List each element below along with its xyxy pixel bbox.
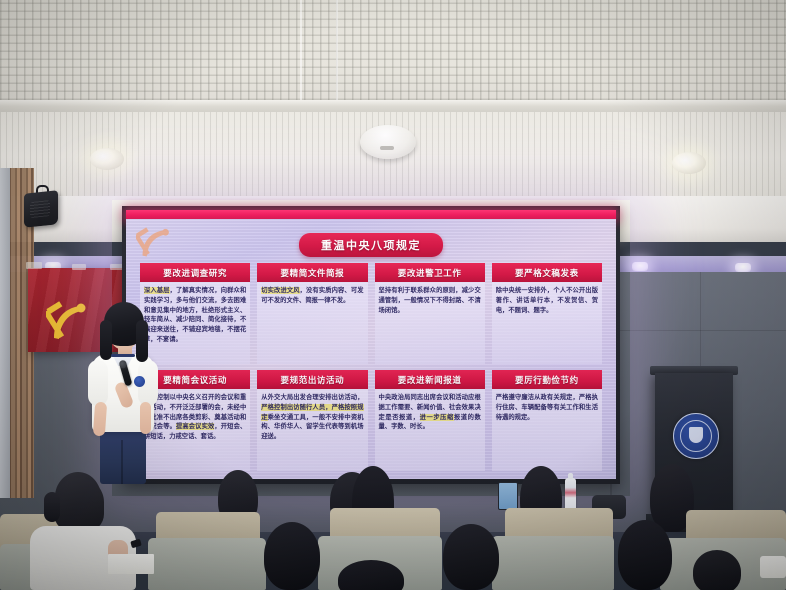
auditorium-scene: 重温中央八项规定 要改进调查研究 深入基层，了解真实情况，向群众和实践学习，多与… (0, 0, 786, 590)
cell-heading: 要改进调查研究 (140, 263, 250, 282)
led-screen: 重温中央八项规定 要改进调查研究 深入基层，了解真实情况，向群众和实践学习，多与… (126, 219, 616, 479)
ceiling-seam (300, 0, 302, 108)
cup (760, 556, 786, 578)
smoke-detector-icon (360, 125, 416, 159)
audience-head (264, 522, 320, 590)
cell-body: 严格遵守廉洁从政有关规定，严格执行住房、车辆配备等有关工作和生活待遇的规定。 (492, 389, 602, 471)
cell-highlight: 切实改进文风 (261, 287, 299, 294)
cell-body-pre: 除中央统一安排外，个人不公开出版著作、讲话单行本，不发贺信、贺电，不题词、题字。 (496, 287, 598, 314)
presenter-arm (140, 402, 151, 434)
wall-seam (610, 330, 786, 331)
school-logo-badge (134, 376, 145, 387)
cell-body-pre: 严格遵守廉洁从政有关规定，严格执行住房、车辆配备等有关工作和生活待遇的规定。 (496, 394, 598, 421)
wall-speaker-icon (24, 190, 58, 228)
presenter (78, 302, 166, 484)
cell-highlight: 进一步压缩 (420, 414, 454, 421)
auditorium-seat-back (492, 536, 614, 590)
audience-head (618, 520, 672, 590)
ceiling-downlight (672, 152, 706, 174)
wall-edge-trim (0, 168, 10, 498)
cove-light (632, 262, 648, 271)
slide-cell: 要规范出访活动 从外交大局出发合理安排出访活动，严格控制出访随行人员，严格按照规… (257, 370, 367, 471)
slide-cell: 要厉行勤俭节约 严格遵守廉洁从政有关规定，严格执行住房、车辆配备等有关工作和生活… (492, 370, 602, 471)
cell-body: 坚持有利于联系群众的原则，减少交通管制，一般情况下不得封路、不清场闭馆。 (375, 282, 485, 364)
cell-heading: 要厉行勤俭节约 (492, 370, 602, 389)
auditorium-seat-back (148, 538, 266, 590)
audience-head (443, 524, 499, 590)
cell-heading: 要规范出访活动 (257, 370, 367, 389)
school-crest-emblem (673, 413, 719, 459)
cell-highlight: 提高会议实效 (176, 423, 214, 430)
cell-heading: 要精简文件简报 (257, 263, 367, 282)
screen-top-accent-strip (126, 210, 616, 219)
cell-body-pre: 坚持有利于联系群众的原则，减少交通管制，一般情况下不得封路、不清场闭馆。 (379, 287, 481, 314)
cell-body-post: 乘坐交通工具，一般不安排中资机构、华侨华人、留学生代表等到机场迎送。 (261, 414, 363, 441)
slide-cell: 要严格文稿发表 除中央统一安排外，个人不公开出版著作、讲话单行本，不发贺信、贺电… (492, 263, 602, 364)
tablet-device[interactable] (498, 482, 518, 510)
cell-body: 从外交大局出发合理安排出访活动，严格控制出访随行人员，严格按照规定乘坐交通工具，… (257, 389, 367, 471)
cell-body: 除中央统一安排外，个人不公开出版著作、讲话单行本，不发贺信、贺电，不题词、题字。 (492, 282, 602, 364)
cell-highlight: 深入基层 (144, 287, 170, 294)
cell-heading: 要改进警卫工作 (375, 263, 485, 282)
cell-heading: 要改进新闻报道 (375, 370, 485, 389)
cell-heading: 要严格文稿发表 (492, 263, 602, 282)
ceiling-acoustic-panels (0, 0, 786, 108)
slide-cell: 要改进新闻报道 中央政治局同志出席会议和活动应根据工作需要、新闻价值、社会效果决… (375, 370, 485, 471)
slide-cell: 要精简文件简报 切实改进文风，没有实质内容、可发可不发的文件、简报一律不发。 (257, 263, 367, 364)
cell-body: 切实改进文风，没有实质内容、可发可不发的文件、简报一律不发。 (257, 282, 367, 364)
audience-ponytail (44, 492, 60, 522)
water-bottle (565, 478, 576, 510)
presenter-collar-trim (111, 354, 135, 357)
presenter-arm (93, 402, 107, 437)
slide-title: 重温中央八项规定 (299, 233, 443, 257)
presenter-hair (136, 320, 148, 362)
ceiling-seam (336, 0, 338, 108)
slide-cell: 要改进警卫工作 坚持有利于联系群众的原则，减少交通管制，一般情况下不得封路、不清… (375, 263, 485, 364)
presenter-sleeve (88, 360, 108, 406)
hammer-and-sickle-icon (136, 225, 178, 259)
flag-tape (72, 264, 86, 270)
flag-tape (26, 262, 42, 269)
cove-light (735, 263, 751, 272)
cell-body-pre: 从外交大局出发合理安排出访活动， (261, 394, 363, 401)
audience-head (54, 478, 104, 532)
notebook (108, 554, 154, 574)
slide-grid: 要改进调查研究 深入基层，了解真实情况，向群众和实践学习，多与他们交流，多去困难… (140, 263, 602, 471)
ceiling-downlight (90, 148, 124, 170)
cell-body: 中央政治局同志出席会议和活动应根据工作需要、新闻价值、社会效果决定是否报道，进一… (375, 389, 485, 471)
presenter-pants (100, 428, 146, 484)
audience-head (693, 550, 741, 590)
